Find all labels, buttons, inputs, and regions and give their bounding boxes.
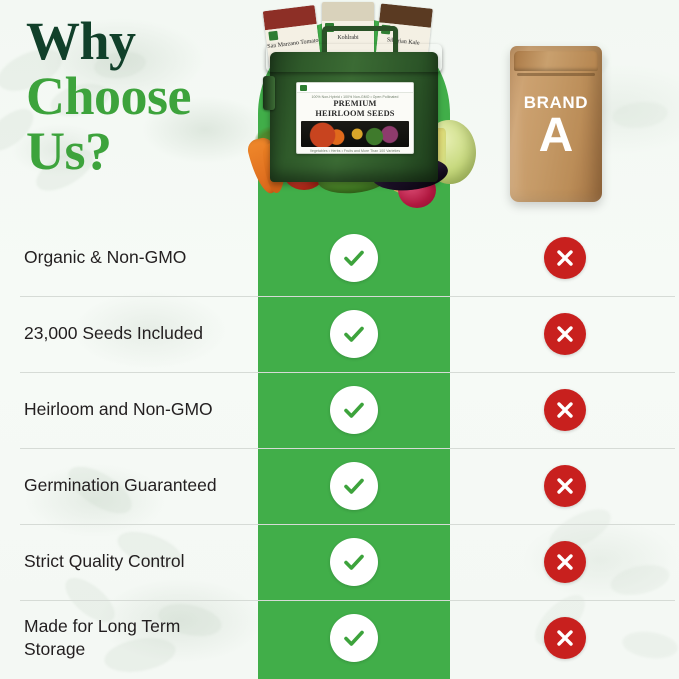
label-tagline: Vegetables • Herbs • Fruits and More Tha… [297,147,413,153]
x-circle-icon [544,465,586,507]
our-product-cell [258,296,450,372]
competitor-cell [450,448,679,524]
seed-storage-can: 100% Non-Hybrid • 100% Non-GMO • Open Po… [270,52,438,182]
feature-label: Germination Guaranteed [24,448,238,524]
competitor-brand-label: BRAND A [510,94,602,161]
check-circle-icon [330,310,378,358]
product-label: 100% Non-Hybrid • 100% Non-GMO • Open Po… [296,82,414,154]
label-title-line-1: PREMIUM [297,99,413,109]
check-circle-icon [330,462,378,510]
label-header [297,83,413,93]
x-circle-icon [544,541,586,583]
feature-label: Strict Quality Control [24,524,238,600]
comparison-table: Organic & Non-GMO 23,000 Seeds Included [0,220,679,676]
check-circle-icon [330,386,378,434]
x-circle-icon [544,617,586,659]
brand-logo-icon [268,31,278,41]
competitor-cell [450,220,679,296]
brand-logo-icon [300,85,307,91]
check-circle-icon [330,538,378,586]
check-circle-icon [330,234,378,282]
pouch-zipper [517,73,595,76]
table-row: Germination Guaranteed [0,448,679,524]
competitor-cell [450,372,679,448]
infographic-canvas: Why Choose Us? San Marzano Tomato Kohlra… [0,0,679,679]
our-product-cell [258,372,450,448]
our-product-cell [258,600,450,676]
can-latch [263,76,275,110]
our-product-cell [258,220,450,296]
label-photo [301,121,409,147]
our-product-cell [258,524,450,600]
feature-label: 23,000 Seeds Included [24,296,238,372]
competitor-product-image: BRAND A [510,46,602,202]
competitor-cell [450,524,679,600]
feature-label: Heirloom and Non-GMO [24,372,238,448]
table-row: Heirloom and Non-GMO [0,372,679,448]
label-title-line-2: HEIRLOOM SEEDS [297,109,413,119]
competitor-cell [450,296,679,372]
product-image: San Marzano Tomato Kohlrabi Siberian Kal… [246,0,462,224]
pouch-seal [514,51,598,71]
our-product-cell [258,448,450,524]
headline-line-2: Choose [26,69,191,124]
competitor-brand-letter: A [510,111,602,161]
x-circle-icon [544,313,586,355]
page-title: Why Choose Us? [26,14,191,179]
feature-label: Organic & Non-GMO [24,220,238,296]
headline-line-3: Us? [26,124,191,179]
table-row: Organic & Non-GMO [0,220,679,296]
x-circle-icon [544,237,586,279]
seed-packet-header [322,2,374,21]
table-row: Made for Long Term Storage [0,600,679,676]
check-circle-icon [330,614,378,662]
can-lid [266,44,442,72]
headline-line-1: Why [26,14,191,69]
table-row: 23,000 Seeds Included [0,296,679,372]
table-row: Strict Quality Control [0,524,679,600]
label-footer: NET WT. 1.05 LB / 16 oz [297,153,413,154]
competitor-cell [450,600,679,676]
feature-label: Made for Long Term Storage [24,600,238,676]
x-circle-icon [544,389,586,431]
